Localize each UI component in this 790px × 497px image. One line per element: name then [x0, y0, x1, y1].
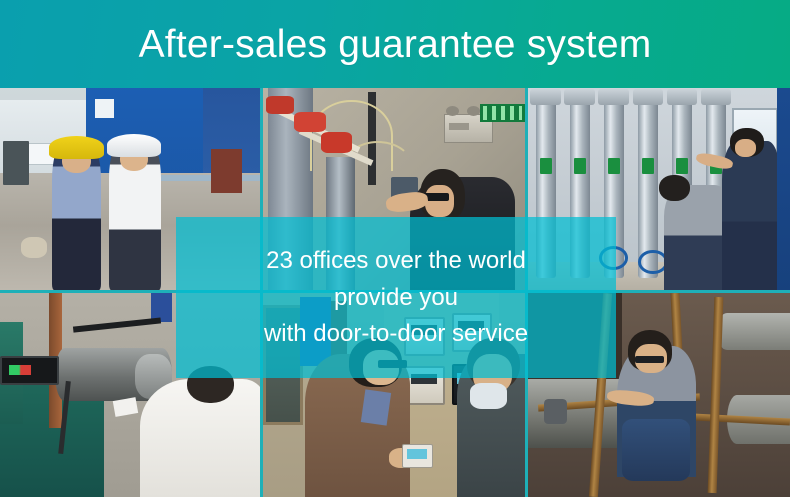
handheld-device-icon — [402, 444, 433, 468]
banner-header: After-sales guarantee system — [0, 0, 790, 88]
page-title: After-sales guarantee system — [139, 25, 652, 64]
overlay-line-1: 23 offices over the world — [266, 245, 526, 277]
overlay-line-3: with door-to-door service — [264, 318, 528, 350]
overlay-line-2: provide you — [334, 282, 458, 314]
face-mask-icon — [470, 383, 507, 410]
digital-display-icon — [0, 356, 59, 384]
after-sales-banner: After-sales guarantee system — [0, 0, 790, 497]
service-overlay-panel: 23 offices over the world provide you wi… — [176, 217, 616, 378]
